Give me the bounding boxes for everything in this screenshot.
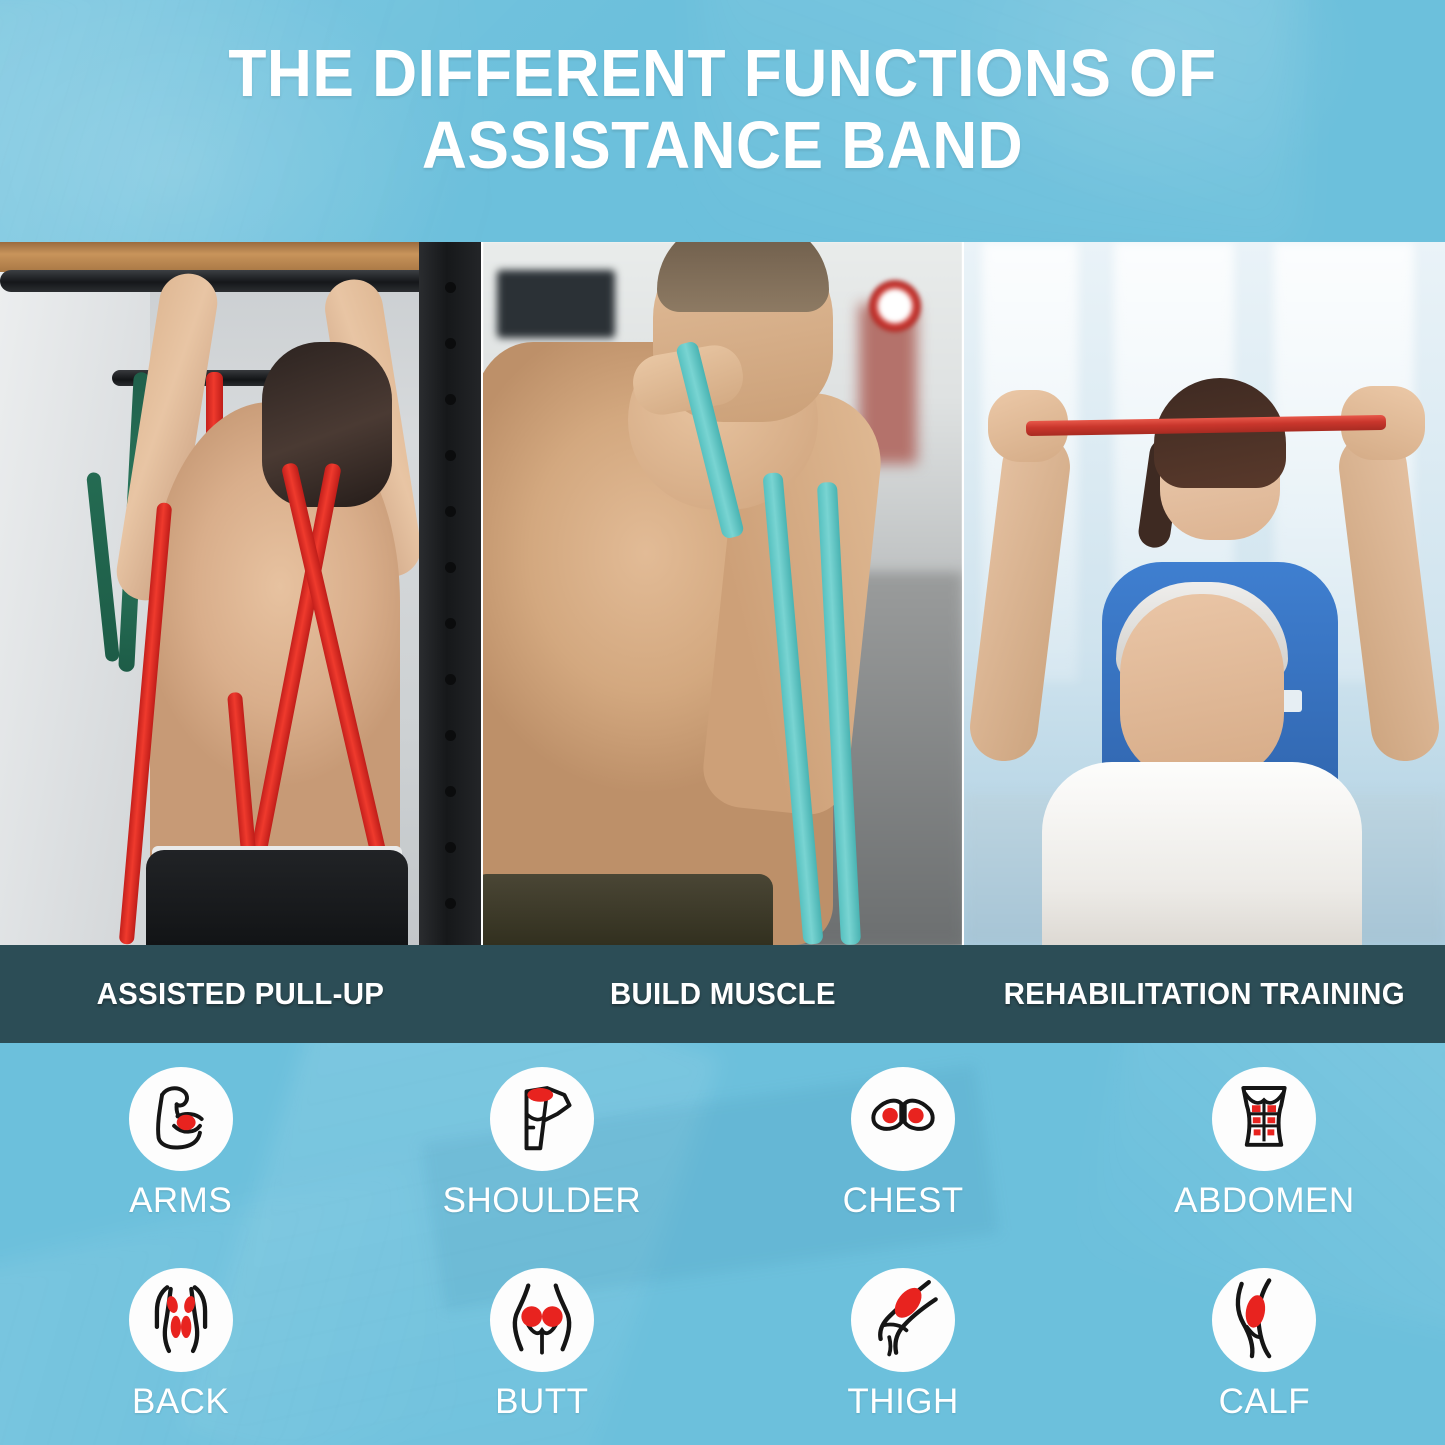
wooden-ceiling — [0, 242, 481, 272]
photo-assisted-pull-up — [0, 242, 481, 945]
icon-disc — [490, 1268, 594, 1372]
body-part-item-thigh[interactable]: THIGH — [723, 1244, 1084, 1445]
icon-disc — [129, 1268, 233, 1372]
body-part-label: CALF — [1219, 1384, 1310, 1419]
caption-label: REHABILITATION TRAINING — [1003, 977, 1404, 1011]
body-part-label: BACK — [132, 1384, 229, 1419]
pectorals-icon — [860, 1076, 946, 1162]
body-part-item-abdomen[interactable]: ABDOMEN — [1084, 1043, 1445, 1244]
body-part-label: SHOULDER — [443, 1183, 641, 1218]
thigh-quadriceps-icon — [860, 1277, 946, 1363]
body-part-item-shoulder[interactable]: SHOULDER — [361, 1043, 722, 1244]
caption-cell-build-muscle: BUILD MUSCLE — [482, 945, 964, 1043]
background-panel-blur — [497, 270, 615, 338]
body-part-item-butt[interactable]: BUTT — [361, 1244, 722, 1445]
icon-disc — [851, 1067, 955, 1171]
caption-cell-assisted-pull-up: ASSISTED PULL-UP — [0, 945, 482, 1043]
six-pack-abs-icon — [1221, 1076, 1307, 1162]
body-part-label: BUTT — [495, 1384, 588, 1419]
icon-disc — [129, 1067, 233, 1171]
flexed-bicep-icon — [138, 1076, 224, 1162]
power-rack-upright — [419, 242, 481, 945]
page-title-line-1: THE DIFFERENT FUNCTIONS OF — [51, 38, 1395, 110]
photo-strip — [0, 242, 1445, 945]
body-part-label: CHEST — [843, 1183, 964, 1218]
background-speed-sign-blur — [869, 280, 921, 332]
page-title: THE DIFFERENT FUNCTIONS OF ASSISTANCE BA… — [51, 0, 1395, 183]
body-part-label: ABDOMEN — [1174, 1183, 1354, 1218]
patient-head — [1120, 594, 1284, 780]
page-title-line-2: ASSISTANCE BAND — [51, 110, 1395, 182]
caption-label: BUILD MUSCLE — [610, 977, 836, 1011]
photo-build-muscle — [483, 242, 962, 945]
athlete-hair — [657, 242, 829, 312]
calf-muscle-icon — [1221, 1277, 1307, 1363]
body-parts-grid: ARMS SHOULDER — [0, 1043, 1445, 1445]
body-part-item-calf[interactable]: CALF — [1084, 1244, 1445, 1445]
icon-disc — [1212, 1067, 1316, 1171]
athlete-shorts — [483, 874, 773, 945]
body-part-label: ARMS — [129, 1183, 232, 1218]
body-parts-section: ARMS SHOULDER — [0, 1043, 1445, 1445]
icon-disc — [851, 1268, 955, 1372]
patient-white-shirt — [1042, 762, 1362, 945]
icon-disc — [490, 1067, 594, 1171]
photo-rehabilitation-training — [964, 242, 1445, 945]
caption-bar: ASSISTED PULL-UP BUILD MUSCLE REHABILITA… — [0, 945, 1445, 1043]
shoulder-deltoid-icon — [499, 1076, 585, 1162]
header-banner: THE DIFFERENT FUNCTIONS OF ASSISTANCE BA… — [0, 0, 1445, 242]
caption-label: ASSISTED PULL-UP — [97, 977, 385, 1011]
infographic-poster: THE DIFFERENT FUNCTIONS OF ASSISTANCE BA… — [0, 0, 1445, 1445]
caption-cell-rehabilitation-training: REHABILITATION TRAINING — [963, 945, 1445, 1043]
body-part-item-back[interactable]: BACK — [0, 1244, 361, 1445]
body-part-item-chest[interactable]: CHEST — [723, 1043, 1084, 1244]
athlete-shorts — [146, 850, 408, 945]
icon-disc — [1212, 1268, 1316, 1372]
back-muscles-icon — [138, 1277, 224, 1363]
body-part-label: THIGH — [847, 1384, 958, 1419]
glutes-icon — [499, 1277, 585, 1363]
body-part-item-arms[interactable]: ARMS — [0, 1043, 361, 1244]
